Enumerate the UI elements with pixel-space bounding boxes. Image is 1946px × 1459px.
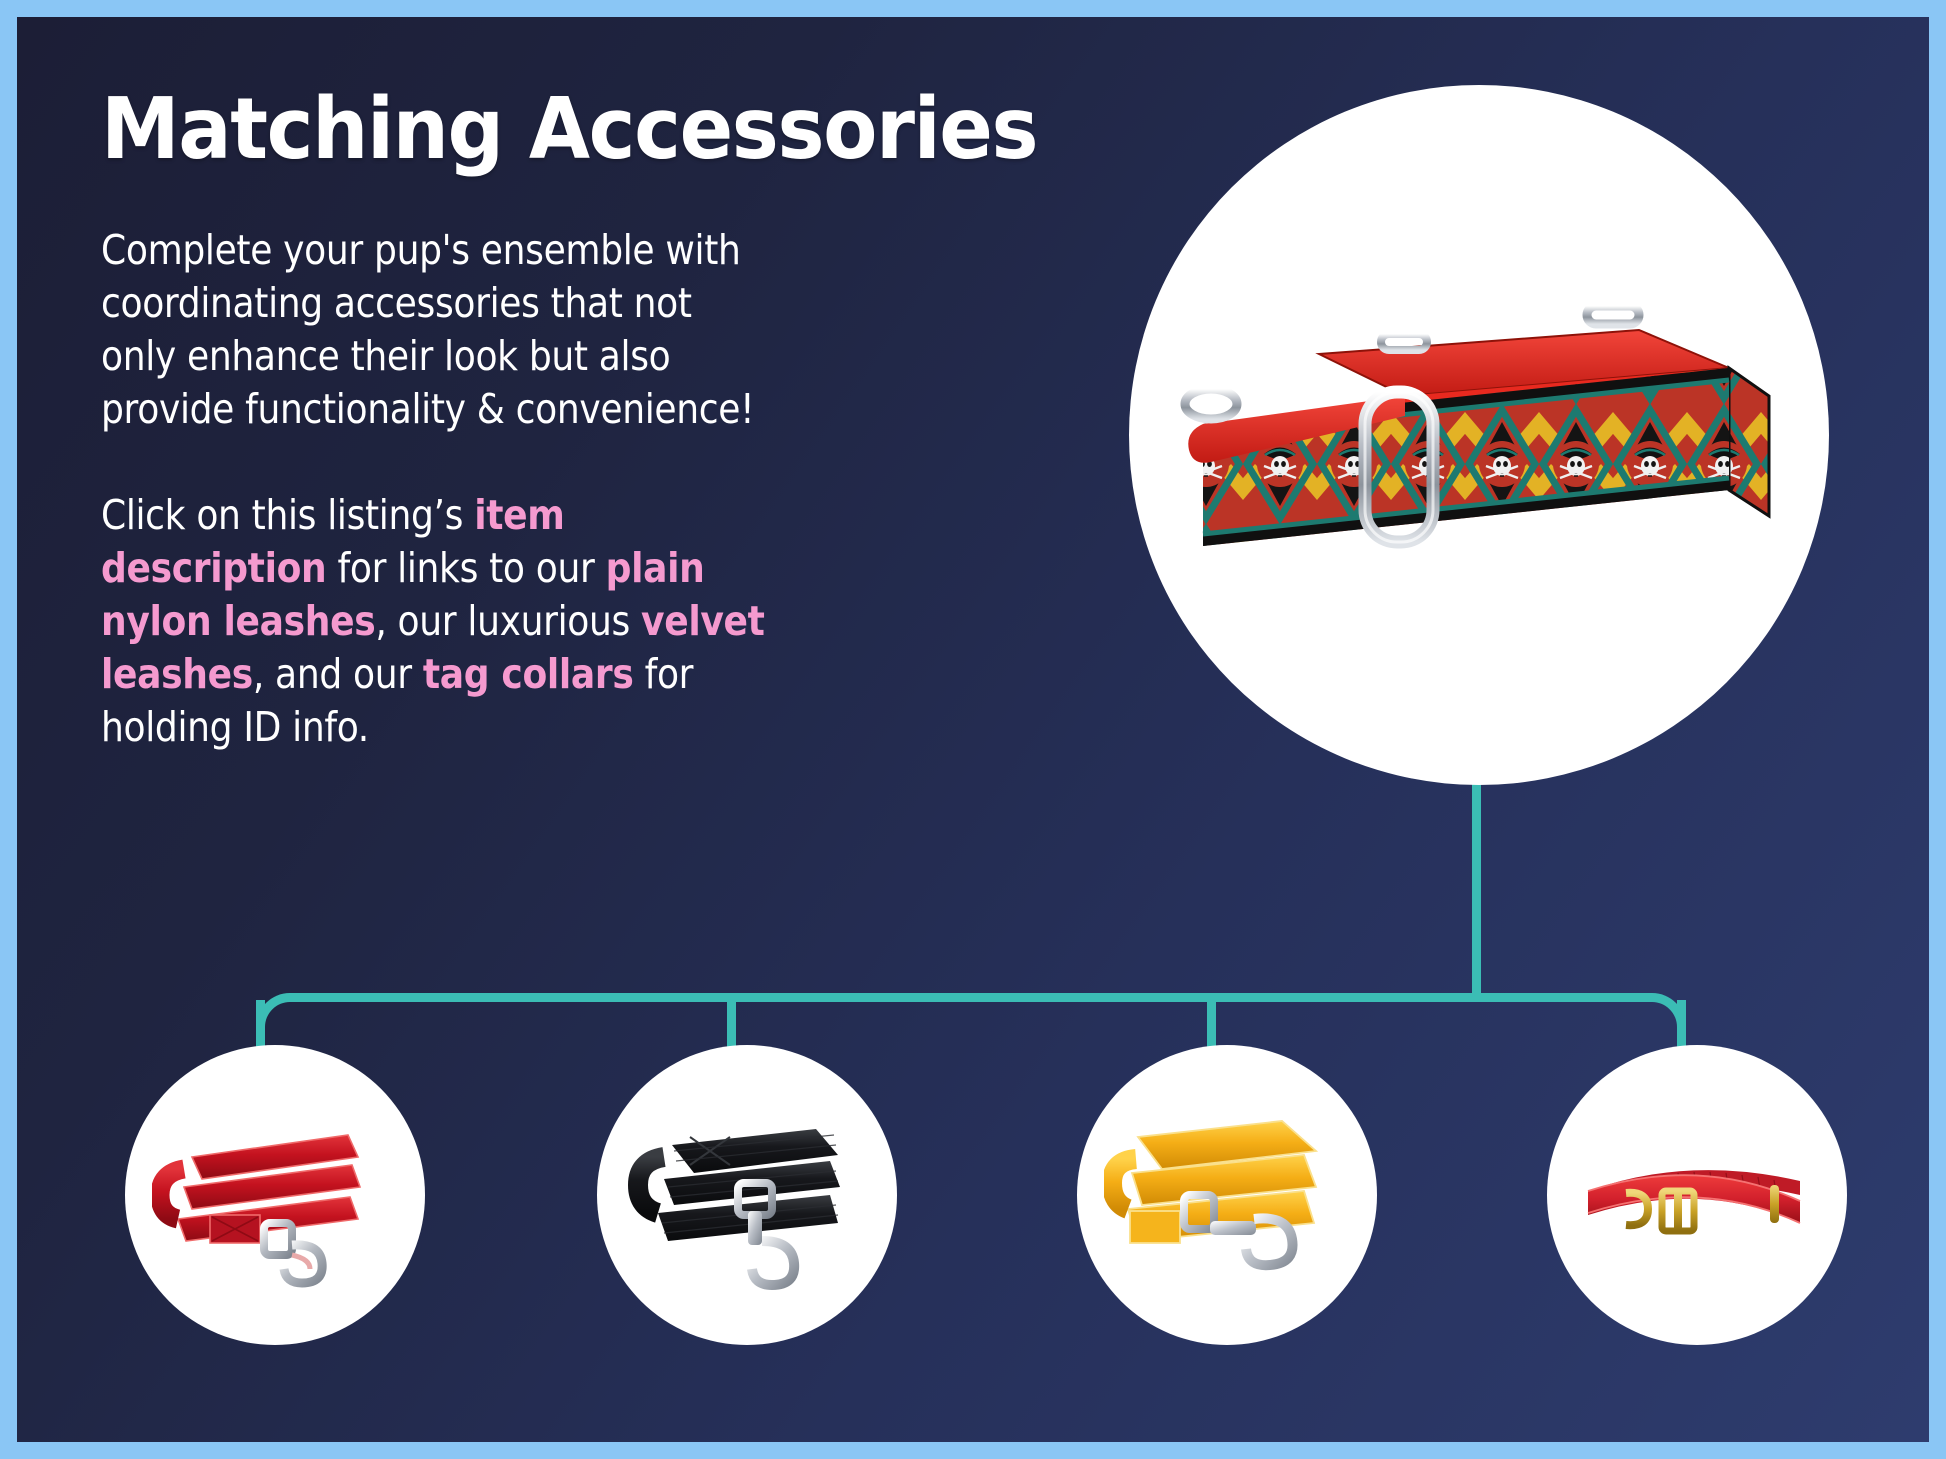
black-nylon-leash-image: [624, 1095, 870, 1295]
text-run-6: , and our: [253, 650, 423, 698]
page-title: Matching Accessories: [101, 87, 1037, 172]
snap-hook: [264, 1223, 322, 1283]
slide-loop-top: [1381, 334, 1427, 350]
paragraph-spacer: [101, 436, 770, 489]
red-velvet-leash-image: [152, 1095, 398, 1295]
connector-stem-vertical: [1472, 759, 1481, 999]
d-ring: [1626, 1193, 1648, 1225]
outer-frame: Matching Accessories Complete your pup's…: [0, 0, 1946, 1459]
text-run-2: for links to our: [326, 544, 605, 592]
link-term-7[interactable]: tag collars: [423, 650, 634, 698]
thumbnail-red-velvet-tag-collar[interactable]: [1547, 1045, 1847, 1345]
paragraph-intro: Complete your pup's ensemble with coordi…: [101, 224, 770, 436]
connector-horizontal-bus: [256, 993, 1686, 1055]
d-ring-left: [1185, 389, 1237, 419]
thumbnail-black-nylon-leash[interactable]: [597, 1045, 897, 1345]
slide-loop-topright: [1587, 306, 1639, 324]
paragraph-links: Click on this listing’s item description…: [101, 489, 770, 754]
thumbnail-yellow-velvet-leash[interactable]: [1077, 1045, 1377, 1345]
keeper-loop: [1770, 1185, 1779, 1223]
body-copy: Complete your pup's ensemble with coordi…: [101, 224, 770, 754]
pirate-skull-collar-image: [1169, 284, 1789, 614]
hero-product-circle[interactable]: [1129, 85, 1829, 785]
thumbnail-red-velvet-leash[interactable]: [125, 1045, 425, 1345]
red-velvet-tag-collar-image: [1574, 1095, 1820, 1295]
slide-canvas: Matching Accessories Complete your pup's…: [17, 17, 1929, 1442]
snap-hook: [738, 1183, 794, 1285]
text-run-0: Click on this listing’s: [101, 491, 474, 539]
yellow-velvet-leash-image: [1104, 1095, 1350, 1295]
text-run-4: , our luxurious: [375, 597, 641, 645]
